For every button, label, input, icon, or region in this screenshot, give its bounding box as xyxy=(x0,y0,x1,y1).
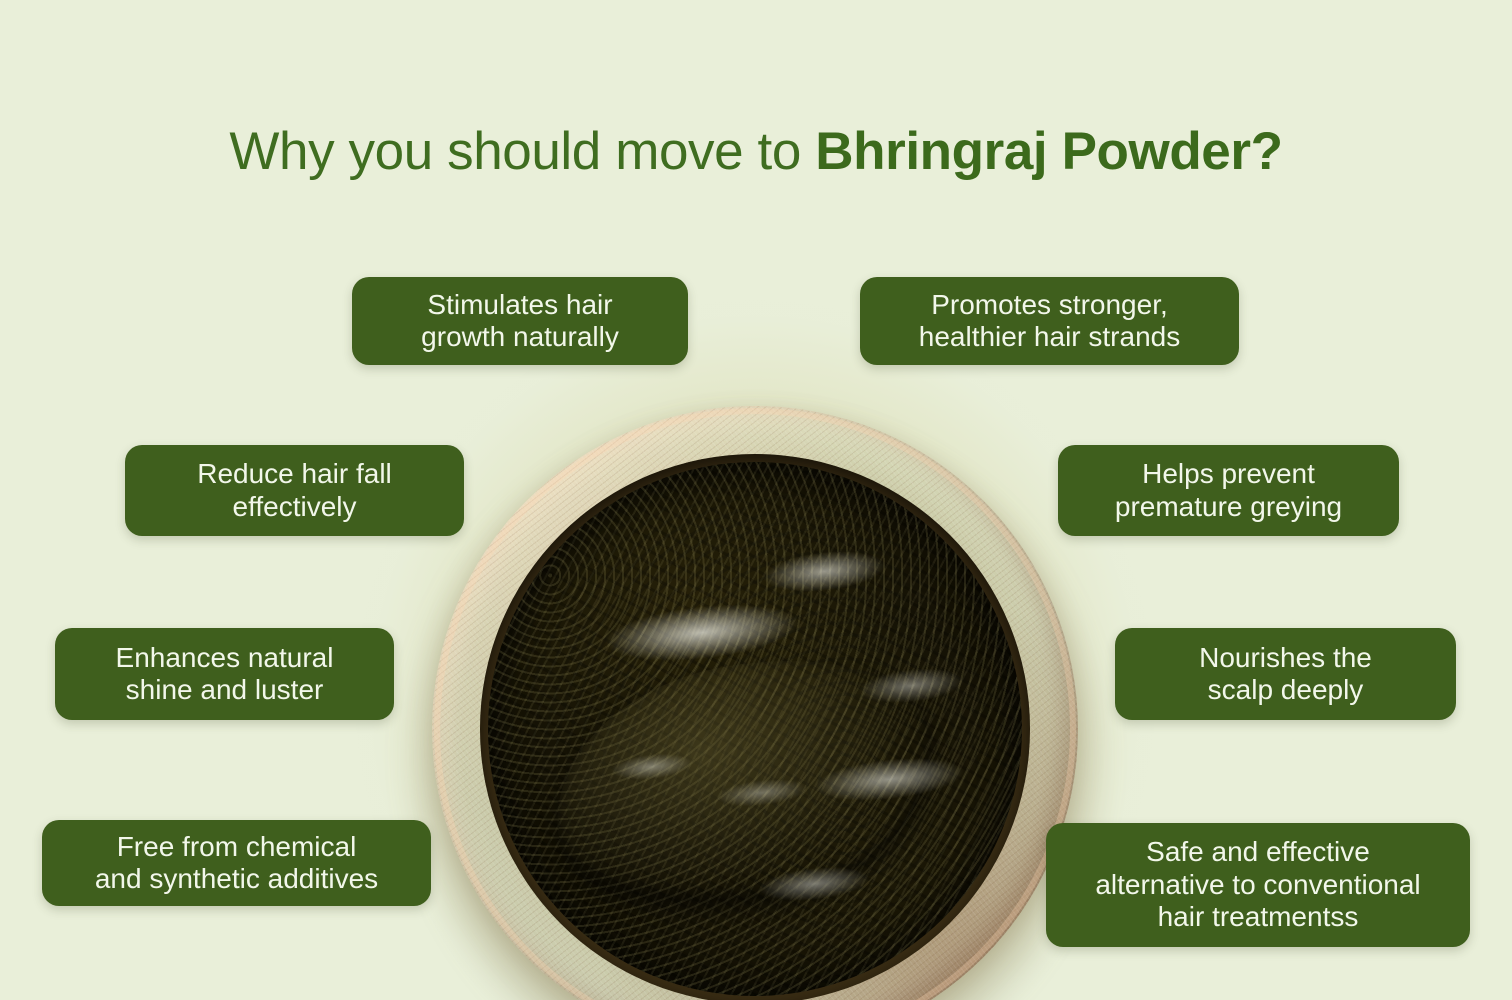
page-title: Why you should move to Bhringraj Powder? xyxy=(0,122,1512,181)
benefit-pill-nourishes-scalp[interactable]: Nourishes the scalp deeply xyxy=(1115,628,1456,720)
clay-bowl-rim xyxy=(432,406,1078,1000)
benefit-pill-label: Reduce hair fall effectively xyxy=(197,458,392,523)
benefit-pill-prevent-premature-greying[interactable]: Helps prevent premature greying xyxy=(1058,445,1399,536)
benefit-pill-safe-alternative[interactable]: Safe and effective alternative to conven… xyxy=(1046,823,1470,947)
benefit-pill-promotes-stronger-hair[interactable]: Promotes stronger, healthier hair strand… xyxy=(860,277,1239,365)
benefit-pill-label: Safe and effective alternative to conven… xyxy=(1095,836,1420,933)
bhringraj-bowl-image xyxy=(432,406,1078,1000)
benefit-pill-label: Helps prevent premature greying xyxy=(1115,458,1342,523)
benefit-pill-label: Nourishes the scalp deeply xyxy=(1199,642,1372,707)
benefit-pill-label: Promotes stronger, healthier hair strand… xyxy=(919,289,1180,354)
benefit-pill-free-from-chemicals[interactable]: Free from chemical and synthetic additiv… xyxy=(42,820,431,906)
paste-swirl-ridge xyxy=(535,633,954,931)
infographic-poster: Why you should move to Bhringraj Powder?… xyxy=(0,0,1512,1000)
benefit-pill-stimulates-hair-growth[interactable]: Stimulates hair growth naturally xyxy=(352,277,688,365)
page-title-lead: Why you should move to xyxy=(229,122,815,181)
benefit-pill-enhances-shine[interactable]: Enhances natural shine and luster xyxy=(55,628,394,720)
benefit-pill-reduce-hair-fall[interactable]: Reduce hair fall effectively xyxy=(125,445,464,536)
bhringraj-paste xyxy=(488,462,1022,996)
benefit-pill-label: Enhances natural shine and luster xyxy=(116,642,334,707)
page-title-highlight: Bhringraj Powder? xyxy=(815,122,1282,181)
benefit-pill-label: Free from chemical and synthetic additiv… xyxy=(95,831,378,896)
benefit-pill-label: Stimulates hair growth naturally xyxy=(421,289,619,354)
